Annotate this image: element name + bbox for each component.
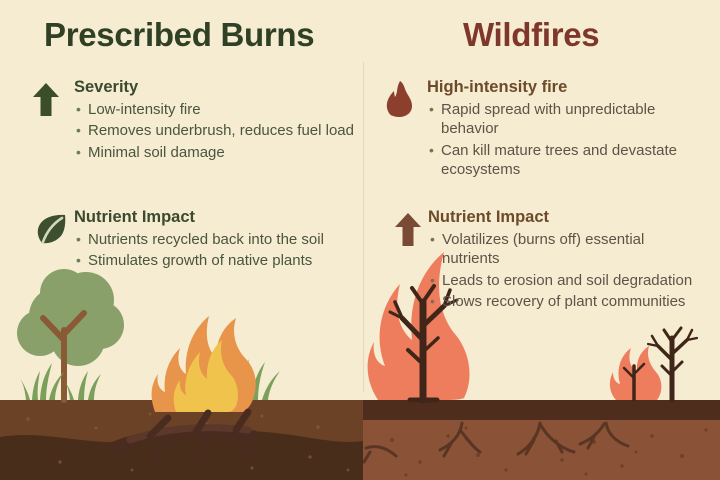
soil-dark-band-right (363, 400, 720, 420)
list-item: Rapid spread with unpredictable behavior (427, 100, 683, 139)
list-item: Volatilizes (burns off) essential nutrie… (428, 230, 697, 269)
left-bullets-nutrient-impact: Nutrients recycled back into the soil St… (74, 230, 356, 271)
right-section-high-intensity-fire: High-intensity fire Rapid spread with un… (383, 78, 683, 182)
left-section-severity: Severity Low-intensity fire Removes unde… (30, 78, 355, 164)
left-bullets-severity: Low-intensity fire Removes underbrush, r… (74, 100, 355, 163)
right-title: Wildfires (463, 16, 599, 54)
flame-icon (383, 80, 415, 118)
right-bullets-high-intensity-fire: Rapid spread with unpredictable behavior… (427, 100, 683, 180)
list-item: Nutrients recycled back into the soil (74, 230, 356, 250)
vertical-divider (363, 62, 364, 392)
leaf-icon (36, 210, 68, 248)
list-item: Slows recovery of plant communities (428, 292, 697, 312)
right-heading-high-intensity-fire: High-intensity fire (427, 78, 683, 97)
right-bullets-nutrient-impact: Volatilizes (burns off) essential nutrie… (428, 230, 697, 312)
list-item: Can kill mature trees and devastate ecos… (427, 141, 683, 180)
soil-subsoil-left (0, 431, 363, 480)
list-item: Leads to erosion and soil degradation (428, 271, 697, 291)
up-arrow-icon (392, 210, 424, 248)
list-item: Removes underbrush, reduces fuel load (74, 121, 355, 141)
left-heading-nutrient-impact: Nutrient Impact (74, 208, 356, 227)
list-item: Minimal soil damage (74, 143, 355, 163)
list-item: Low-intensity fire (74, 100, 355, 120)
up-arrow-icon (30, 80, 62, 118)
list-item: Stimulates growth of native plants (74, 251, 356, 271)
left-section-nutrient-impact: Nutrient Impact Nutrients recycled back … (36, 208, 356, 273)
infographic-canvas: Prescribed Burns Severity Low-intensity … (0, 0, 720, 480)
left-heading-severity: Severity (74, 78, 355, 97)
right-section-nutrient-impact: Nutrient Impact Volatilizes (burns off) … (392, 208, 697, 314)
left-title: Prescribed Burns (44, 16, 314, 54)
right-heading-nutrient-impact: Nutrient Impact (428, 208, 697, 227)
